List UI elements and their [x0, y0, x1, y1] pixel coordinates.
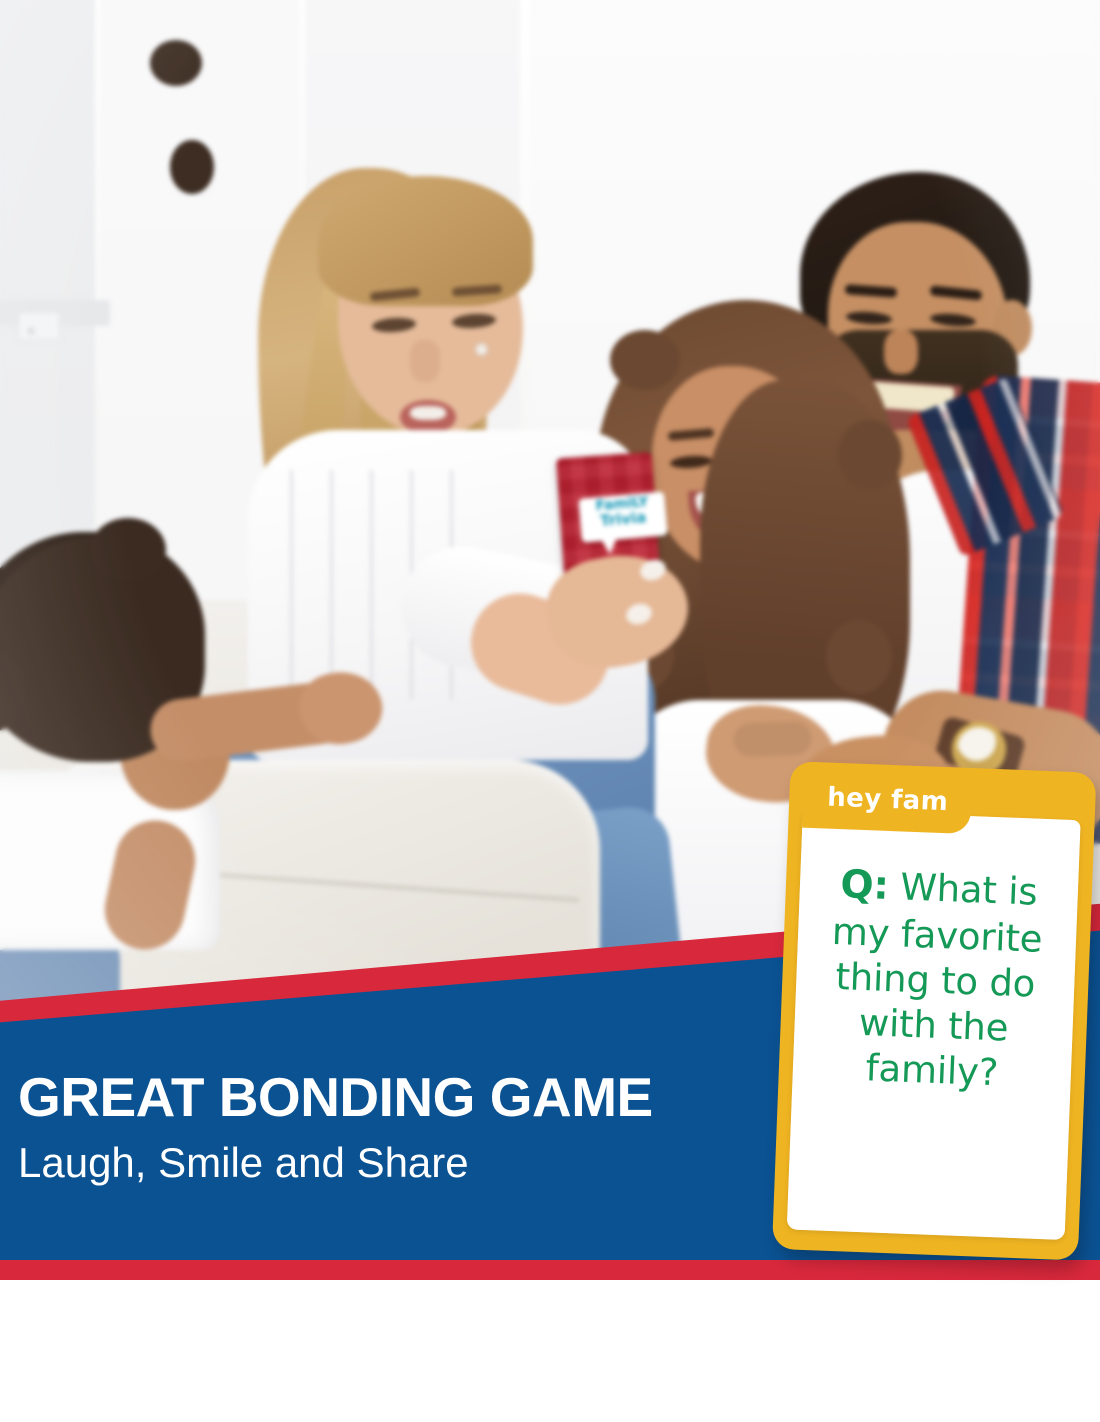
- mother-earring: [476, 344, 487, 355]
- question-card-tab-label: hey fam: [827, 783, 949, 818]
- product-lifestyle-image: FamiLY Trivia GREAT BONDING GAME Laugh, …: [0, 0, 1100, 1422]
- question-card-tab: hey fam: [802, 766, 972, 834]
- top-rib-line: [290, 470, 293, 700]
- page-title: GREAT BONDING GAME: [18, 1070, 778, 1125]
- top-rib-line: [370, 470, 373, 700]
- trivia-card-speech-bubble: FamiLY Trivia: [578, 491, 668, 542]
- girl-hair-curl: [610, 330, 680, 390]
- girl-hair-curl: [826, 620, 892, 694]
- banner-text-block: GREAT BONDING GAME Laugh, Smile and Shar…: [18, 1070, 778, 1184]
- top-rib-line: [330, 470, 333, 700]
- father-nose: [884, 330, 918, 374]
- girl-hair-curl: [838, 420, 902, 490]
- page-subtitle: Laugh, Smile and Share: [18, 1142, 778, 1184]
- mother-nose: [410, 340, 440, 382]
- question-card: hey fam Q: What is my favorite thing to …: [772, 761, 1100, 1273]
- toddler-hair-curl: [170, 140, 214, 194]
- question-card-text: Q: What is my favorite thing to do with …: [804, 860, 1067, 1098]
- toddler-hair-curl: [150, 40, 202, 86]
- shelf-object: [18, 312, 60, 340]
- mother-mouth: [400, 400, 456, 434]
- question-prefix: Q:: [840, 862, 890, 909]
